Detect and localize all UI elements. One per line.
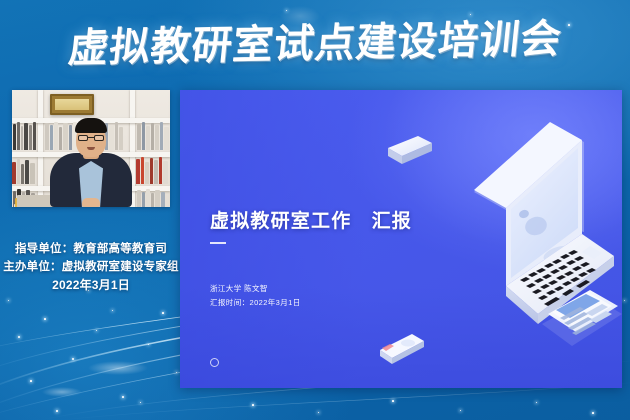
isometric-laptop-illustration: [374, 114, 622, 364]
slide-divider: [210, 242, 226, 244]
speaker-video-panel[interactable]: [12, 90, 170, 207]
presenter-figure: [48, 129, 134, 207]
presentation-slide[interactable]: 虚拟教研室工作 汇报 浙江大学 陈文智 汇报时间：2022年3月1日: [180, 90, 622, 388]
organizer-credits: 指导单位：教育部高等教育司 主办单位：虚拟教研室建设专家组 2022年3月1日: [0, 240, 182, 295]
slide-page-indicator[interactable]: [210, 358, 219, 367]
slide-meta-date: 汇报时间：2022年3月1日: [210, 296, 301, 310]
credit-line-host: 主办单位：虚拟教研室建设专家组: [0, 258, 182, 276]
slide-title: 虚拟教研室工作 汇报: [210, 206, 412, 233]
video-frame-content: [12, 90, 170, 207]
header-banner: 虚拟教研室试点建设培训会: [0, 0, 630, 88]
floating-card-small: [388, 136, 432, 164]
floating-phone: [380, 334, 424, 364]
award-plaque: [50, 94, 94, 115]
page-title: 虚拟教研室试点建设培训会: [66, 19, 563, 68]
slide-meta: 浙江大学 陈文智 汇报时间：2022年3月1日: [210, 282, 301, 310]
credit-line-date: 2022年3月1日: [0, 276, 182, 295]
credit-line-guidance: 指导单位：教育部高等教育司: [0, 240, 182, 258]
presentation-stage: 虚拟教研室试点建设培训会: [0, 0, 630, 420]
slide-meta-presenter: 浙江大学 陈文智: [210, 282, 301, 296]
